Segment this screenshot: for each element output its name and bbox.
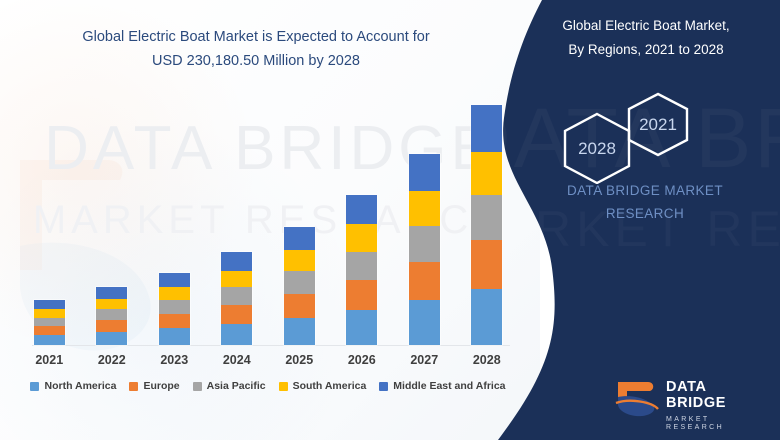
- bar-column: [393, 97, 455, 345]
- bar-segment-europe[interactable]: [159, 314, 190, 329]
- bar-column: [331, 97, 393, 345]
- legend-item-south-america[interactable]: South America: [279, 380, 367, 392]
- bar-column: [18, 97, 80, 345]
- legend-swatch-icon: [193, 382, 202, 391]
- stacked-bar[interactable]: [96, 287, 127, 345]
- stacked-bar[interactable]: [346, 195, 377, 345]
- bar-segment-asia-pacific[interactable]: [346, 252, 377, 280]
- bar-segment-north-america[interactable]: [221, 324, 252, 345]
- legend-swatch-icon: [129, 382, 138, 391]
- bar-segment-south-america[interactable]: [284, 250, 315, 271]
- bar-segment-middle-east-and-africa[interactable]: [96, 287, 127, 299]
- bar-column: [143, 97, 205, 345]
- bar-segment-south-america[interactable]: [221, 271, 252, 288]
- logo-text-block: DATA BRIDGE MARKET RESEARCH: [666, 380, 760, 431]
- page-title: Global Electric Boat Market is Expected …: [36, 26, 476, 74]
- bar-segment-south-america[interactable]: [471, 152, 502, 196]
- brand-panel-title-line-1: Global Electric Boat Market,: [526, 14, 766, 38]
- bar-segment-middle-east-and-africa[interactable]: [159, 273, 190, 287]
- legend-swatch-icon: [379, 382, 388, 391]
- x-axis-tick-label: 2023: [143, 353, 205, 367]
- plot-area: [18, 96, 518, 346]
- x-axis-tick-label: 2022: [81, 353, 143, 367]
- brand-name-line-1: DATA BRIDGE MARKET: [520, 180, 770, 203]
- bar-segment-asia-pacific[interactable]: [221, 287, 252, 304]
- bar-column: [206, 97, 268, 345]
- legend-item-europe[interactable]: Europe: [129, 380, 179, 392]
- bar-segment-asia-pacific[interactable]: [471, 195, 502, 240]
- brand-name-line-2: RESEARCH: [520, 203, 770, 226]
- x-axis-tick-label: 2026: [331, 353, 393, 367]
- legend-item-middle-east-and-africa[interactable]: Middle East and Africa: [379, 380, 505, 392]
- bar-segment-asia-pacific[interactable]: [409, 226, 440, 262]
- bar-segment-south-america[interactable]: [409, 191, 440, 226]
- hexagon-2028-label: 2028: [578, 139, 616, 158]
- page-title-line-1: Global Electric Boat Market is Expected …: [36, 26, 476, 50]
- bar-segment-middle-east-and-africa[interactable]: [221, 252, 252, 270]
- legend-label: Asia Pacific: [207, 380, 266, 392]
- bar-segment-middle-east-and-africa[interactable]: [409, 154, 440, 191]
- stacked-bar[interactable]: [221, 252, 252, 345]
- bar-segment-europe[interactable]: [409, 262, 440, 301]
- infographic-root: DATA BRIDGE MARKET RESEARCH Global Elect…: [0, 0, 780, 440]
- legend-item-north-america[interactable]: North America: [30, 380, 116, 392]
- bar-segment-middle-east-and-africa[interactable]: [284, 227, 315, 250]
- hexagon-badges: 2021 2028: [550, 88, 710, 184]
- bar-segment-asia-pacific[interactable]: [159, 300, 190, 313]
- stacked-bar[interactable]: [409, 154, 440, 345]
- bar-segment-europe[interactable]: [346, 280, 377, 311]
- bar-segment-europe[interactable]: [471, 240, 502, 289]
- bar-segment-europe[interactable]: [284, 294, 315, 318]
- legend-label: North America: [44, 380, 116, 392]
- legend-label: South America: [293, 380, 367, 392]
- chart-legend: North AmericaEuropeAsia PacificSouth Ame…: [18, 376, 518, 396]
- brand-panel-title: Global Electric Boat Market, By Regions,…: [526, 14, 766, 61]
- stacked-bar[interactable]: [284, 227, 315, 345]
- bar-segment-north-america[interactable]: [96, 332, 127, 345]
- stacked-bar[interactable]: [471, 105, 502, 345]
- bar-segment-europe[interactable]: [34, 326, 65, 335]
- bar-segment-middle-east-and-africa[interactable]: [346, 195, 377, 224]
- bar-segment-asia-pacific[interactable]: [284, 271, 315, 293]
- legend-item-asia-pacific[interactable]: Asia Pacific: [193, 380, 266, 392]
- company-logo: DATA BRIDGE MARKET RESEARCH: [610, 378, 760, 420]
- bar-segment-middle-east-and-africa[interactable]: [34, 300, 65, 309]
- bar-segment-europe[interactable]: [221, 305, 252, 324]
- bar-segment-north-america[interactable]: [409, 300, 440, 345]
- bar-segment-asia-pacific[interactable]: [34, 318, 65, 326]
- bar-segment-north-america[interactable]: [284, 318, 315, 345]
- x-axis-tick-label: 2024: [206, 353, 268, 367]
- legend-label: Middle East and Africa: [393, 380, 505, 392]
- bar-segment-south-america[interactable]: [34, 309, 65, 317]
- bar-segment-south-america[interactable]: [96, 299, 127, 310]
- stacked-bar[interactable]: [34, 300, 65, 345]
- hexagon-2021-label: 2021: [639, 115, 677, 134]
- x-axis-tick-label: 2027: [393, 353, 455, 367]
- x-axis-ticks: 20212022202320242025202620272028: [18, 348, 518, 372]
- logo-mark-icon: [610, 378, 662, 418]
- bar-group: [18, 97, 518, 345]
- bar-segment-north-america[interactable]: [159, 328, 190, 345]
- bar-segment-north-america[interactable]: [471, 289, 502, 345]
- legend-swatch-icon: [30, 382, 39, 391]
- stacked-bar[interactable]: [159, 273, 190, 345]
- bar-column: [81, 97, 143, 345]
- x-axis-tick-label: 2021: [18, 353, 80, 367]
- bar-segment-middle-east-and-africa[interactable]: [471, 105, 502, 151]
- bar-segment-south-america[interactable]: [346, 224, 377, 251]
- logo-company-name: DATA BRIDGE: [666, 380, 760, 412]
- bar-segment-north-america[interactable]: [34, 335, 65, 345]
- bar-segment-north-america[interactable]: [346, 310, 377, 345]
- x-axis-tick-label: 2028: [456, 353, 518, 367]
- legend-label: Europe: [143, 380, 179, 392]
- logo-tagline: MARKET RESEARCH: [666, 416, 760, 431]
- bar-segment-south-america[interactable]: [159, 287, 190, 300]
- brand-panel-title-line-2: By Regions, 2021 to 2028: [526, 38, 766, 62]
- brand-name-text: DATA BRIDGE MARKET RESEARCH: [520, 180, 770, 226]
- page-title-line-2: USD 230,180.50 Million by 2028: [36, 50, 476, 74]
- bar-column: [268, 97, 330, 345]
- chart-panel: DATA BRIDGE MARKET RESEARCH Global Elect…: [0, 0, 540, 440]
- legend-swatch-icon: [279, 382, 288, 391]
- bar-segment-europe[interactable]: [96, 320, 127, 332]
- axis-baseline: [32, 345, 510, 346]
- bar-segment-asia-pacific[interactable]: [96, 309, 127, 320]
- x-axis-tick-label: 2025: [268, 353, 330, 367]
